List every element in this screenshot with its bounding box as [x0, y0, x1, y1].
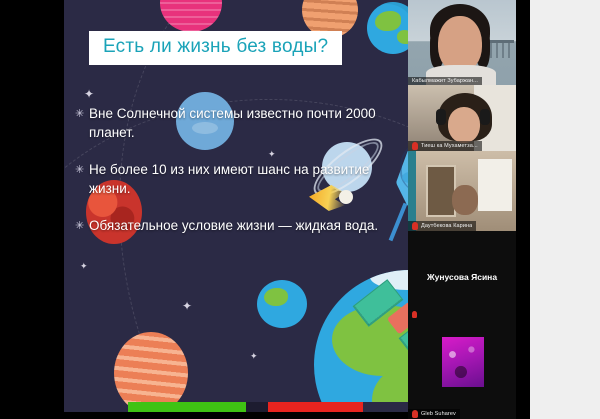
bullet-marker-icon: ✳	[75, 219, 84, 232]
participant-video	[408, 151, 516, 231]
right-background	[516, 0, 600, 419]
muted-mic-icon	[412, 142, 418, 150]
planet-earth-middle	[257, 280, 307, 328]
star-icon: ✦	[182, 300, 192, 312]
screen-share-view: ✦ ✦ ✦ ✦ ✦ ✦ ✦ ✦ ✦	[0, 0, 600, 419]
bullet-text: Обязательное условие жизни — жидкая вода…	[89, 216, 389, 235]
participant-name: Gleb Suharev	[421, 411, 456, 417]
left-black-bar	[0, 0, 64, 419]
participant-video	[408, 0, 516, 85]
right-black-edge	[516, 0, 530, 419]
participant-tile[interactable]: Жунусова Ясина	[408, 231, 516, 323]
annotation-bar-red[interactable]	[268, 402, 363, 412]
avatar	[442, 337, 484, 387]
star-icon: ✦	[84, 88, 94, 100]
participant-name-bar: Даутбекова Карина	[408, 221, 476, 231]
star-icon: ✦	[80, 262, 88, 271]
slide-bullet-list: ✳ Вне Солнечной системы известно почти 2…	[89, 104, 389, 253]
participant-name-bar: Gleb Suharev	[408, 409, 460, 419]
star-icon: ✦	[250, 352, 258, 361]
annotation-bar-gap	[246, 402, 269, 412]
bullet-marker-icon: ✳	[75, 163, 84, 176]
muted-mic-icon	[412, 222, 418, 230]
bullet-text: Не более 10 из них имеют шанс на развити…	[89, 160, 389, 198]
participant-name: Кабылмажит Зубаржан...	[412, 78, 478, 84]
participant-name: Жунусова Ясина	[427, 272, 497, 282]
muted-mic-icon	[412, 311, 417, 318]
participant-video-strip: Кабылмажит Зубаржан... Тиеш ка Мухаметза…	[408, 0, 516, 419]
participant-tile[interactable]: Кабылмажит Зубаржан...	[408, 0, 516, 85]
annotation-bar-green[interactable]	[128, 402, 246, 412]
bullet-marker-icon: ✳	[75, 107, 84, 120]
participant-tile[interactable]: Тиеш ка Мухаметза...	[408, 85, 516, 151]
slide-title: Есть ли жизнь без воды?	[89, 31, 342, 65]
list-item: ✳ Не более 10 из них имеют шанс на разви…	[89, 160, 389, 198]
planet-jupiter-large	[114, 332, 188, 412]
slide-title-text: Есть ли жизнь без воды?	[103, 36, 328, 57]
participant-name: Даутбекова Карина	[421, 223, 472, 229]
participant-name-bar: Кабылмажит Зубаржан...	[408, 77, 482, 85]
participant-tile[interactable]: Даутбекова Карина	[408, 151, 516, 231]
list-item: ✳ Вне Солнечной системы известно почти 2…	[89, 104, 389, 142]
bullet-text: Вне Солнечной системы известно почти 200…	[89, 104, 389, 142]
muted-mic-icon	[412, 410, 418, 418]
list-item: ✳ Обязательное условие жизни — жидкая во…	[89, 216, 389, 235]
participant-name: Тиеш ка Мухаметза...	[421, 143, 478, 149]
participant-tile[interactable]: Gleb Suharev	[408, 323, 516, 419]
participant-name-bar: Тиеш ка Мухаметза...	[408, 141, 482, 151]
